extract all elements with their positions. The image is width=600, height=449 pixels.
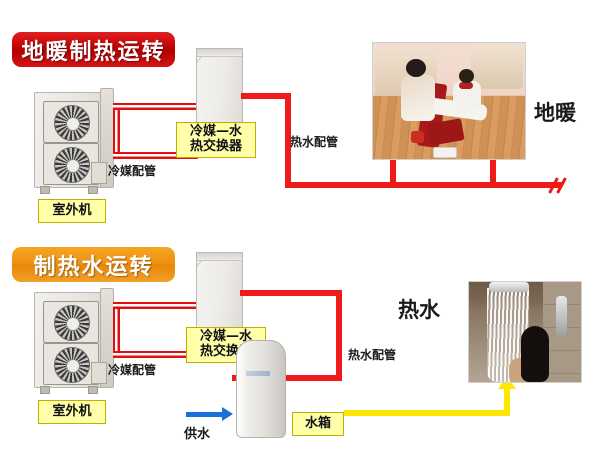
photo-shower-hot-water	[468, 281, 582, 383]
hot-water-delivery-pipe	[344, 410, 510, 416]
shower-head-icon	[489, 282, 529, 292]
water-supply-arrow-icon	[222, 407, 233, 421]
unit-foot	[40, 186, 50, 194]
hot-water-pipe-down-right	[336, 290, 342, 381]
unit-top-cap	[197, 49, 242, 57]
hot-water-pipe-run	[285, 182, 562, 188]
label-outdoor-unit-water: 室外机	[38, 400, 106, 424]
unit-foot	[40, 386, 50, 394]
outdoor-unit-water	[30, 288, 114, 394]
fan-icon	[54, 147, 90, 183]
result-label-hot-water: 热水	[398, 294, 440, 324]
label-refrigerant-pipe-floor: 冷媒配管	[108, 162, 156, 179]
person-hair	[521, 326, 549, 382]
adult-head	[406, 59, 426, 77]
child-bib	[459, 82, 473, 89]
sofa-right	[471, 45, 523, 89]
section-title-hot-water: 制热水运转	[12, 247, 175, 282]
label-water-supply: 供水	[184, 423, 210, 442]
refrigerant-pipe-vertical	[113, 103, 120, 159]
refrigerant-pipe-horizontal-top	[113, 302, 198, 309]
child-head	[459, 69, 474, 83]
section-divider	[0, 228, 600, 231]
outdoor-unit-control-panel	[91, 162, 107, 184]
result-label-floor-heating: 地暖	[534, 97, 576, 127]
label-hot-water-pipe-water: 热水配管	[348, 346, 396, 363]
unit-foot	[88, 186, 98, 194]
tank-brand-strip	[246, 371, 270, 376]
hand-shower-icon	[556, 296, 567, 336]
fan-grill-top	[43, 101, 99, 143]
refrigerant-pipe-vertical	[113, 302, 120, 358]
label-outdoor-unit-floor: 室外机	[38, 199, 106, 223]
label-heat-exchanger-floor: 冷媒—水 热交换器	[176, 122, 256, 158]
label-water-tank: 水箱	[292, 412, 344, 436]
fan-icon	[54, 305, 90, 341]
photo-floor-heating-room	[372, 42, 526, 160]
hot-water-pipe-to-tank-top	[240, 290, 342, 296]
fan-icon	[54, 347, 90, 383]
unit-top-cap	[197, 253, 242, 261]
refrigerant-pipe-horizontal-top	[113, 103, 198, 110]
remote-control	[433, 147, 457, 158]
diagram-canvas: 地暖制热运转 室外机 冷媒配管 冷媒—水 热交换器 热水配管	[0, 0, 600, 449]
hot-water-pipe-top	[241, 93, 291, 99]
water-tank	[236, 340, 286, 438]
unit-foot	[88, 386, 98, 394]
hot-water-delivery-riser	[504, 386, 510, 412]
label-refrigerant-pipe-water: 冷媒配管	[108, 361, 156, 378]
label-hot-water-pipe-floor: 热水配管	[290, 133, 338, 150]
adult-body	[401, 75, 435, 121]
toy-block	[411, 131, 424, 143]
fan-grill-top	[43, 301, 99, 343]
fan-icon	[54, 105, 90, 141]
water-supply-line	[186, 412, 224, 417]
outdoor-unit-floor	[30, 88, 114, 194]
outdoor-unit-control-panel	[91, 362, 107, 384]
section-title-floor-heating: 地暖制热运转	[12, 32, 175, 67]
